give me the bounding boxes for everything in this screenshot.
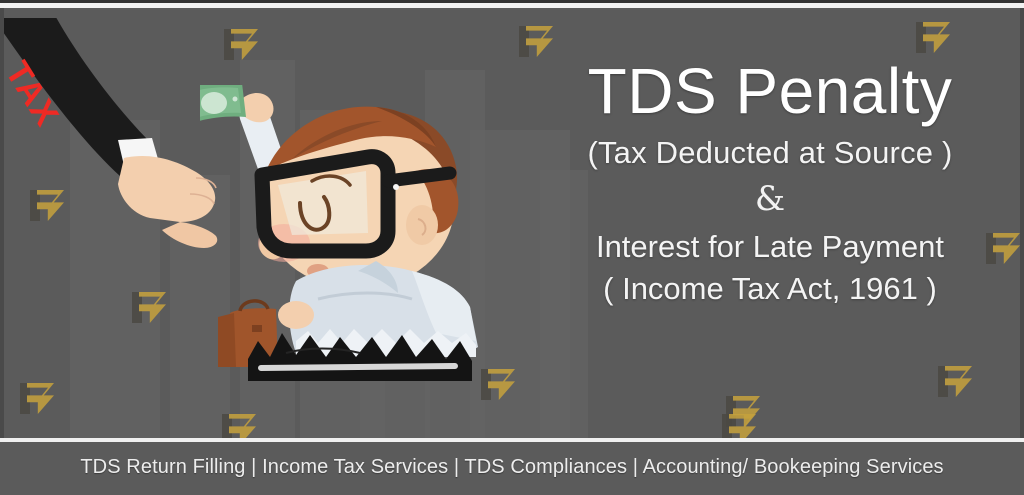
headline-block: TDS Penalty (Tax Deducted at Source ) & …	[520, 58, 1020, 307]
subtitle-interest: Interest for Late Payment	[520, 229, 1020, 265]
R-logo-watermark	[132, 292, 166, 323]
watermark-r-glyph	[526, 26, 553, 57]
right-edge-strip	[1020, 8, 1024, 438]
watermark-r-glyph	[923, 22, 950, 53]
watermark-r-glyph	[27, 383, 54, 414]
page-title: TDS Penalty	[520, 58, 1020, 125]
R-logo-watermark	[20, 383, 54, 414]
top-white-rule	[0, 3, 1024, 8]
ampersand-glyph: &	[520, 179, 1020, 219]
R-logo-watermark	[916, 22, 950, 53]
subtitle-tds: (Tax Deducted at Source )	[520, 135, 1020, 171]
businessman-character	[200, 85, 530, 385]
left-edge-strip	[0, 8, 4, 438]
R-logo-watermark	[519, 26, 553, 57]
watermark-r-glyph	[139, 292, 166, 323]
footer-services-text: TDS Return Filling | Income Tax Services…	[0, 456, 1024, 479]
banknote	[200, 85, 246, 125]
tds-penalty-banner: TAX	[0, 0, 1024, 495]
subtitle-act: ( Income Tax Act, 1961 )	[520, 271, 1020, 307]
watermark-r-glyph	[945, 366, 972, 397]
R-logo-watermark	[938, 366, 972, 397]
